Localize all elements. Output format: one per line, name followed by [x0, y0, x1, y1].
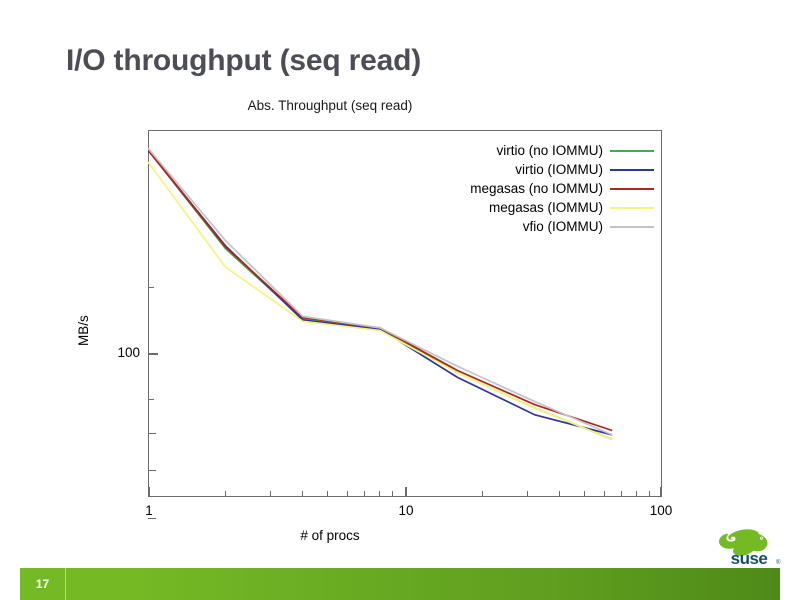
legend-label: virtio (no IOMMU)	[496, 143, 610, 158]
legend-item[interactable]: virtio (no IOMMU)	[404, 141, 654, 160]
legend-item[interactable]: megasas (IOMMU)	[404, 198, 654, 217]
legend-item[interactable]: virtio (IOMMU)	[404, 160, 654, 179]
suse-wordmark: suse ®	[731, 549, 781, 568]
legend-label: megasas (IOMMU)	[489, 200, 610, 215]
legend-swatch-vfio-iommu	[610, 226, 654, 228]
suse-logo: suse ®	[714, 524, 784, 568]
page-number: 17	[20, 568, 65, 600]
footer-divider	[65, 568, 66, 600]
legend-label: vfio (IOMMU)	[523, 219, 610, 234]
y-tick-label-100: 100	[80, 345, 140, 360]
legend-item[interactable]: vfio (IOMMU)	[404, 217, 654, 236]
chart-title: Abs. Throughput (seq read)	[0, 98, 660, 113]
suse-trademark: ®	[776, 559, 781, 566]
x-tick-label-100: 100	[641, 503, 681, 518]
legend-item[interactable]: megasas (no IOMMU)	[404, 179, 654, 198]
page-title: I/O throughput (seq read)	[66, 44, 421, 78]
x-tick-label-1: 1	[129, 503, 169, 518]
footer-bar	[20, 568, 780, 600]
legend-label: virtio (IOMMU)	[515, 162, 610, 177]
legend-swatch-megasas-no-iommu	[610, 188, 654, 190]
chart-legend: virtio (no IOMMU) virtio (IOMMU) megasas…	[404, 141, 654, 236]
y-tick-minor	[148, 518, 156, 519]
x-tick-label-10: 10	[386, 503, 426, 518]
legend-swatch-virtio-no-iommu	[610, 150, 654, 152]
y-axis-label: MB/s	[76, 315, 91, 346]
x-axis-label: # of procs	[0, 528, 660, 543]
legend-label: megasas (no IOMMU)	[470, 181, 610, 196]
legend-swatch-megasas-iommu	[610, 207, 654, 209]
legend-swatch-virtio-iommu	[610, 169, 654, 171]
chart-container: Abs. Throughput (seq read) 100 MB/s 1	[0, 88, 800, 558]
suse-wordmark-text: suse	[731, 549, 768, 568]
slide: I/O throughput (seq read) Abs. Throughpu…	[0, 0, 800, 600]
